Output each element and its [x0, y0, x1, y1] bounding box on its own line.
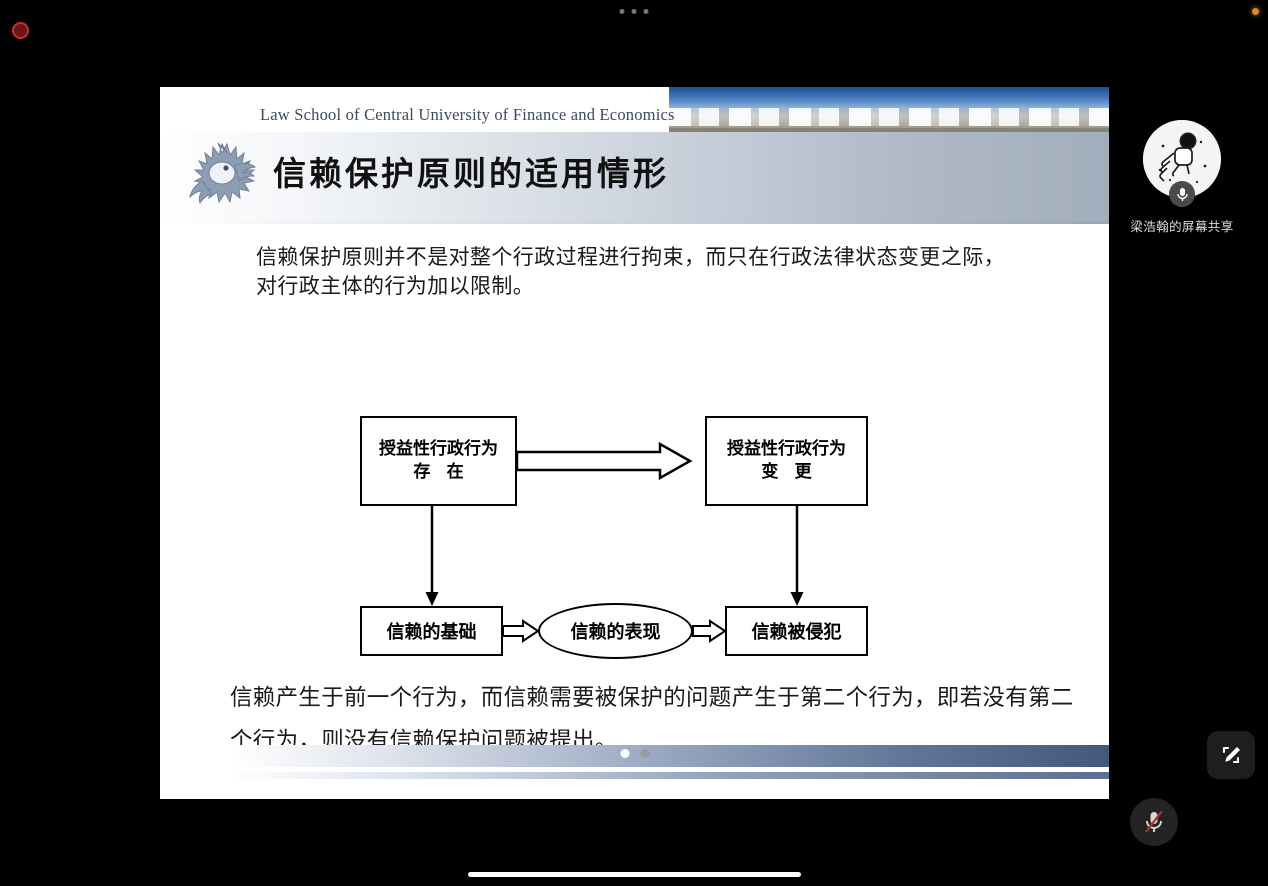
home-indicator-bar[interactable]: [468, 872, 801, 877]
screen-share-viewer: 录制中 Law School of Central University of …: [0, 0, 1268, 886]
dot-3: [644, 9, 649, 14]
flow-box-top-left: 授益性行政行为 存 在: [360, 416, 517, 506]
flow-box-top-right: 授益性行政行为 变 更: [705, 416, 868, 506]
shared-slide[interactable]: Law School of Central University of Fina…: [160, 87, 1109, 799]
record-dot-icon: [12, 22, 29, 39]
flow-box-top-right-line1: 授益性行政行为: [727, 438, 846, 461]
dot-2: [632, 9, 637, 14]
microphone-muted-icon: [1142, 809, 1166, 835]
page-dot-idle[interactable]: [640, 749, 649, 758]
flowchart: 授益性行政行为 存 在 授益性行政行为 变 更 信赖的基础 信赖的表现 信赖被侵…: [360, 416, 905, 661]
avatar[interactable]: [1143, 120, 1221, 198]
footer-bar-primary: [230, 745, 1109, 767]
recording-indicator: 录制中: [12, 18, 85, 42]
status-dot-icon: [1252, 8, 1259, 15]
slide-header: Law School of Central University of Fina…: [160, 87, 1109, 231]
slide-footer: [160, 745, 1109, 785]
flow-ellipse-middle: 信赖的表现: [538, 603, 693, 659]
dragon-crest-logo: [172, 121, 272, 221]
school-english-title: Law School of Central University of Fina…: [260, 105, 675, 125]
flow-box-top-left-line2: 存 在: [407, 461, 469, 484]
mic-mute-button[interactable]: [1130, 798, 1178, 846]
dot-1: [620, 9, 625, 14]
page-title: 信赖保护原则的适用情形: [273, 147, 669, 195]
flow-box-top-right-line2: 变 更: [755, 461, 817, 484]
recording-label: 录制中: [37, 18, 85, 42]
pencil-annotate-icon: [1218, 742, 1244, 768]
paragraph-1: 信赖保护原则并不是对整个行政过程进行拘束，而只在行政法律状态变更之际，对行政主体…: [256, 243, 1016, 301]
footer-bar-secondary: [230, 772, 1109, 779]
page-dot-active[interactable]: [620, 749, 629, 758]
page-indicator-dots[interactable]: [620, 749, 649, 758]
flow-box-bottom-left: 信赖的基础: [360, 606, 503, 656]
more-dots-icon[interactable]: [620, 9, 649, 14]
annotate-button[interactable]: [1207, 731, 1255, 779]
share-panel: 梁浩翰的屏幕共享: [1126, 120, 1238, 235]
flow-box-top-left-line1: 授益性行政行为: [379, 438, 498, 461]
slide-body: 信赖保护原则并不是对整个行政过程进行拘束，而只在行政法律状态变更之际，对行政主体…: [160, 231, 1109, 799]
share-panel-label: 梁浩翰的屏幕共享: [1130, 216, 1233, 235]
flow-box-bottom-right: 信赖被侵犯: [725, 606, 868, 656]
microphone-icon: [1169, 181, 1195, 207]
